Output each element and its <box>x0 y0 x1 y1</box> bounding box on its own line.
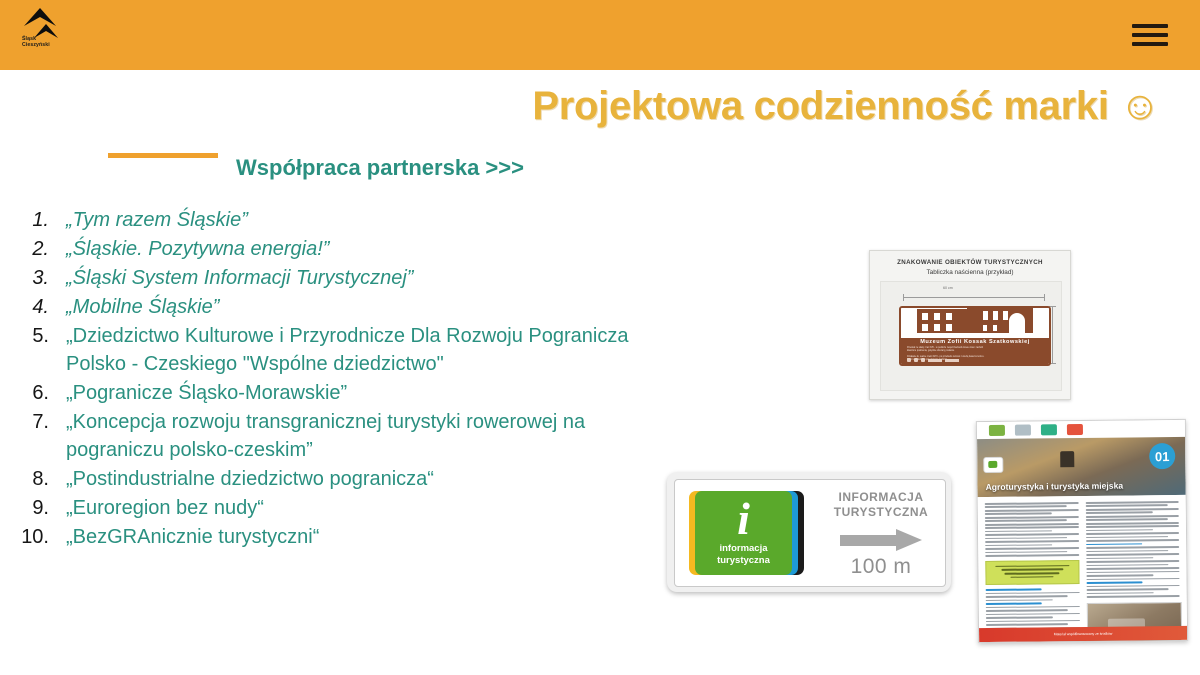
right-arrow-icon <box>840 529 922 551</box>
subheading-rule <box>986 589 1042 591</box>
subheading-rule <box>1086 543 1142 545</box>
plaque-text-strip: Muzeum Zofii Kossak Szatkowskiej Powstał… <box>901 338 1049 364</box>
list-item-number: 8. <box>0 465 66 493</box>
highlight-box <box>985 560 1079 585</box>
list-item-number: 10. <box>0 523 66 551</box>
dimension-label: 60 cm <box>941 286 955 290</box>
list-item-number: 3. <box>0 264 66 292</box>
text-block <box>985 502 1079 557</box>
list-item-number: 1. <box>0 206 66 234</box>
information-icon: i informacja turystyczna <box>689 491 804 575</box>
brochure-footer-bar: Materiał współfinansowany ze środków Eur… <box>979 626 1187 642</box>
sign-text: INFORMACJA TURYSTYCZNA <box>825 490 937 520</box>
logo-wordmark: Śląsk Cieszyński <box>22 36 50 48</box>
section-subtitle: Współpraca partnerska >>> <box>236 155 524 181</box>
top-header-bar: Śląsk Cieszyński <box>0 0 1200 70</box>
brochure-body <box>978 495 1187 628</box>
list-item: 1. „Tym razem Śląskie” <box>0 206 800 234</box>
sign-face: i informacja turystyczna INFORMACJA TURY… <box>674 479 946 587</box>
partner-logo-4-icon <box>1067 424 1083 435</box>
text-block <box>1085 501 1179 542</box>
hamburger-line-3 <box>1132 42 1168 46</box>
letter-i-glyph: i <box>695 491 792 547</box>
brochure-hero-photo: 01 Agroturystyka i turystyka miejska <box>977 437 1186 497</box>
hamburger-line-2 <box>1132 33 1168 37</box>
brochure-corner-logo <box>983 457 1003 473</box>
brochure-title: Agroturystyka i turystyka miejska <box>985 481 1123 492</box>
list-item-label: „Tym razem Śląskie” <box>66 206 248 234</box>
sign-direction-block: INFORMACJA TURYSTYCZNA 100 m <box>825 490 937 579</box>
text-block <box>1086 546 1180 580</box>
plaque-subheading: Tabliczka naścienna (przykład) <box>870 269 1070 276</box>
plaque-logo-wordmark <box>928 359 942 362</box>
list-item-number: 5. <box>0 322 66 350</box>
arrow-head <box>896 529 922 551</box>
tourist-information-sign-image: i informacja turystyczna INFORMACJA TURY… <box>667 472 951 592</box>
plaque-heading: ZNAKOWANIE OBIEKTÓW TURYSTYCZNYCH <box>870 259 1070 266</box>
plaque-logo-2 <box>914 358 918 362</box>
list-item-number: 4. <box>0 293 66 321</box>
subheading-rule <box>1086 582 1142 584</box>
list-item: 6. „Pogranicze Śląsko-Morawskie” <box>0 379 800 407</box>
subtitle-rule <box>108 153 218 158</box>
subheading-rule <box>986 603 1042 605</box>
hamburger-menu-icon[interactable] <box>1132 24 1168 46</box>
brochure-number-badge: 01 <box>1149 443 1175 469</box>
brochure-column-right <box>1085 501 1180 621</box>
partner-logo-2-icon <box>1015 425 1031 436</box>
brochure-partner-logos <box>977 420 1185 439</box>
text-block <box>1086 585 1180 598</box>
partner-logo-3-icon <box>1041 424 1057 435</box>
museum-plaque: Muzeum Zofii Kossak Szatkowskiej Powstał… <box>899 306 1051 366</box>
plaque-logo-1 <box>907 358 911 362</box>
list-item-number: 2. <box>0 235 66 263</box>
list-item-number: 9. <box>0 494 66 522</box>
plaque-logo-3 <box>921 358 925 362</box>
list-item-label: „Śląski System Informacji Turystycznej” <box>66 264 413 292</box>
plaque-canvas: 60 cm <box>880 281 1062 391</box>
building-silhouette-icon <box>917 306 1033 338</box>
list-item-label: „Euroregion bez nudy“ <box>66 494 264 522</box>
list-item-label: „Mobilne Śląskie” <box>66 293 219 321</box>
sign-distance: 100 m <box>825 555 937 579</box>
information-icon-label: informacja turystyczna <box>695 543 792 567</box>
list-item-label: „Dziedzictwo Kulturowe i Przyrodnicze Dl… <box>66 322 628 378</box>
slask-cieszynski-logo[interactable] <box>20 6 76 58</box>
list-item-number: 6. <box>0 379 66 407</box>
text-block <box>986 592 1080 602</box>
list-item-label: „BezGRAnicznie turystyczni“ <box>66 523 319 551</box>
list-item: 4. „Mobilne Śląskie” <box>0 293 800 321</box>
list-item-label: „Pogranicze Śląsko-Morawskie” <box>66 379 347 407</box>
arrow-shaft <box>840 535 896 546</box>
page-title: Projektowa codzienność marki ☺ <box>532 84 1160 129</box>
list-item: 3. „Śląski System Informacji Turystyczne… <box>0 264 800 292</box>
list-item-label: „Śląskie. Pozytywna energia!” <box>66 235 329 263</box>
plaque-spec-image: ZNAKOWANIE OBIEKTÓW TURYSTYCZNYCH Tablic… <box>869 250 1071 400</box>
list-item: 5. „Dziedzictwo Kulturowe i Przyrodnicze… <box>0 322 800 378</box>
list-item: 7. „Koncepcja rozwoju transgranicznej tu… <box>0 408 800 464</box>
brochure-image: 01 Agroturystyka i turystyka miejska <box>976 419 1188 643</box>
brochure-footer-text: Materiał współfinansowany ze środków Eur… <box>979 626 1187 643</box>
plaque-title: Muzeum Zofii Kossak Szatkowskiej <box>901 339 1049 345</box>
hamburger-line-1 <box>1132 24 1168 28</box>
list-item-label: „Koncepcja rozwoju transgranicznej turys… <box>66 408 585 464</box>
plaque-footer-logos <box>907 358 959 362</box>
list-item-number: 7. <box>0 408 66 436</box>
list-item-label: „Postindustrialne dziedzictwo pogranicza… <box>66 465 434 493</box>
partner-logo-1-icon <box>989 425 1005 436</box>
list-item: 2. „Śląskie. Pozytywna energia!” <box>0 235 800 263</box>
brochure-column-left <box>985 502 1080 622</box>
dimension-line-horizontal <box>903 294 1045 301</box>
plaque-logo-wordmark-2 <box>945 359 959 362</box>
